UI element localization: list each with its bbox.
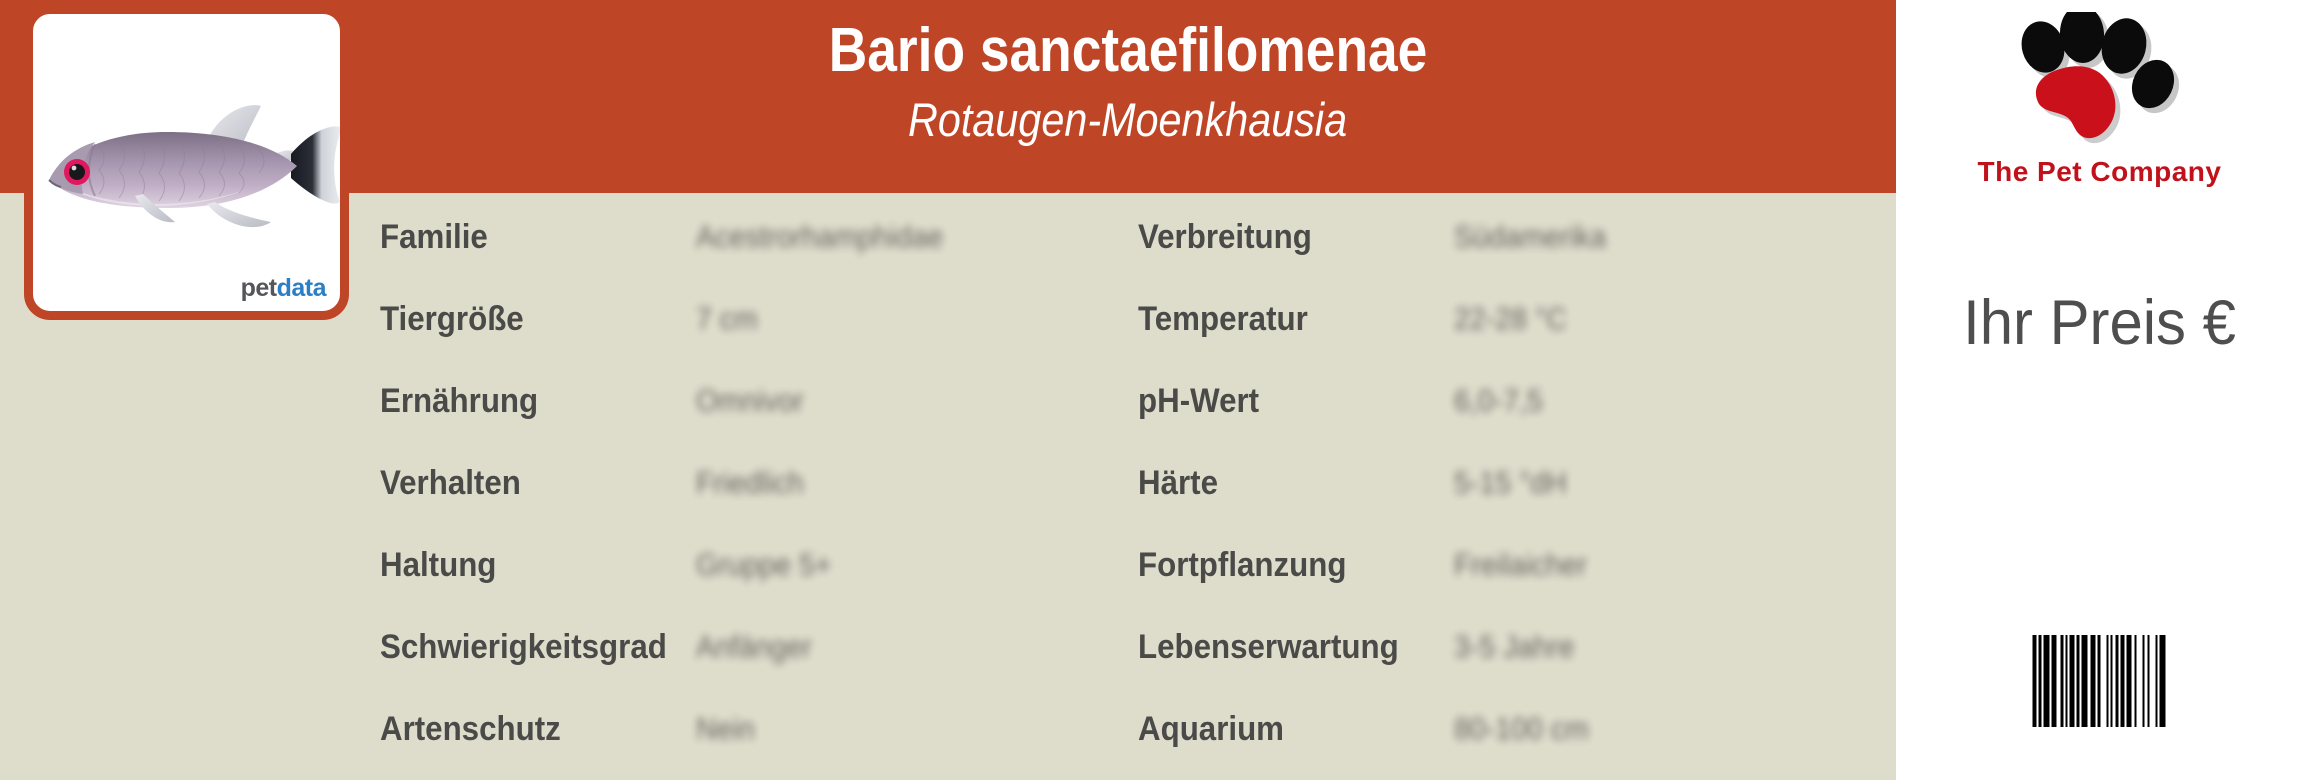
petdata-watermark: petdata: [241, 276, 326, 301]
spec-label: Temperatur: [1138, 300, 1308, 339]
spec-row: Verbreitung Südamerika: [1138, 196, 1888, 278]
spec-column-right: Verbreitung Südamerika Temperatur 22-28 …: [1138, 196, 1888, 776]
spec-value: 80-100 cm: [1454, 711, 1589, 747]
spec-row: Schwierigkeitsgrad Anfänger: [380, 606, 1130, 688]
spec-row: Temperatur 22-28 °C: [1138, 278, 1888, 360]
brand-name: The Pet Company: [1896, 156, 2303, 188]
spec-value: Acestrorhamphidae: [696, 219, 943, 255]
spec-value: Südamerika: [1454, 219, 1606, 255]
spec-label: Tiergröße: [380, 300, 524, 339]
spec-value: Anfänger: [696, 629, 812, 665]
spec-label: Lebenserwartung: [1138, 628, 1399, 667]
spec-row: Haltung Gruppe 5+: [380, 524, 1130, 606]
spec-row: Aquarium 80-100 cm: [1138, 688, 1888, 770]
pet-species-label: Bario sanctaefilomenae Rotaugen-Moenkhau…: [0, 0, 2303, 780]
spec-label: Fortpflanzung: [1138, 546, 1346, 585]
common-name: Rotaugen-Moenkhausia: [908, 96, 1347, 143]
scientific-name: Bario sanctaefilomenae: [829, 20, 1428, 82]
spec-value: 7 cm: [696, 301, 758, 337]
barcode: [2032, 635, 2167, 727]
spec-value: Omnivor: [696, 383, 804, 419]
spec-row: Familie Acestrorhamphidae: [380, 196, 1130, 278]
spec-label: Verbreitung: [1138, 218, 1312, 257]
spec-label: Härte: [1138, 464, 1218, 503]
spec-label: Artenschutz: [380, 710, 561, 749]
spec-row: pH-Wert 6,0-7,5: [1138, 360, 1888, 442]
spec-value: 22-28 °C: [1454, 301, 1567, 337]
header-text-block: Bario sanctaefilomenae Rotaugen-Moenkhau…: [360, 0, 1896, 193]
spec-value: Freilaicher: [1454, 547, 1587, 583]
spec-label: Ernährung: [380, 382, 538, 421]
spec-label: Aquarium: [1138, 710, 1284, 749]
brand-logo-block: The Pet Company: [1896, 6, 2303, 202]
spec-row: Artenschutz Nein: [380, 688, 1130, 770]
spec-label: Schwierigkeitsgrad: [380, 628, 667, 667]
paw-print-icon: [1995, 12, 2205, 152]
fish-illustration-icon: [39, 62, 344, 277]
spec-value: 3-5 Jahre: [1454, 629, 1574, 665]
spec-value: 5-15 °dH: [1454, 465, 1567, 501]
spec-label: pH-Wert: [1138, 382, 1259, 421]
fish-photo: [33, 14, 340, 311]
spec-label: Haltung: [380, 546, 496, 585]
price-label: Ihr Preis €: [1906, 292, 2293, 355]
spec-row: Ernährung Omnivor: [380, 360, 1130, 442]
spec-column-left: Familie Acestrorhamphidae Tiergröße 7 cm…: [380, 196, 1130, 776]
spec-value: Gruppe 5+: [696, 547, 832, 583]
spec-value: Nein: [696, 711, 755, 747]
spec-value: 6,0-7,5: [1454, 383, 1543, 419]
spec-table: Familie Acestrorhamphidae Tiergröße 7 cm…: [380, 196, 1880, 776]
spec-row: Lebenserwartung 3-5 Jahre: [1138, 606, 1888, 688]
spec-row: Verhalten Friedlich: [380, 442, 1130, 524]
petdata-watermark-part2: data: [277, 274, 326, 302]
spec-label: Verhalten: [380, 464, 521, 503]
spec-label: Familie: [380, 218, 488, 257]
spec-row: Fortpflanzung Freilaicher: [1138, 524, 1888, 606]
spec-value: Friedlich: [696, 465, 804, 501]
spec-row: Härte 5-15 °dH: [1138, 442, 1888, 524]
species-photo-tile: petdata: [24, 5, 349, 320]
petdata-watermark-part1: pet: [241, 274, 277, 302]
spec-row: Tiergröße 7 cm: [380, 278, 1130, 360]
right-panel: The Pet Company Ihr Preis €: [1896, 0, 2303, 780]
